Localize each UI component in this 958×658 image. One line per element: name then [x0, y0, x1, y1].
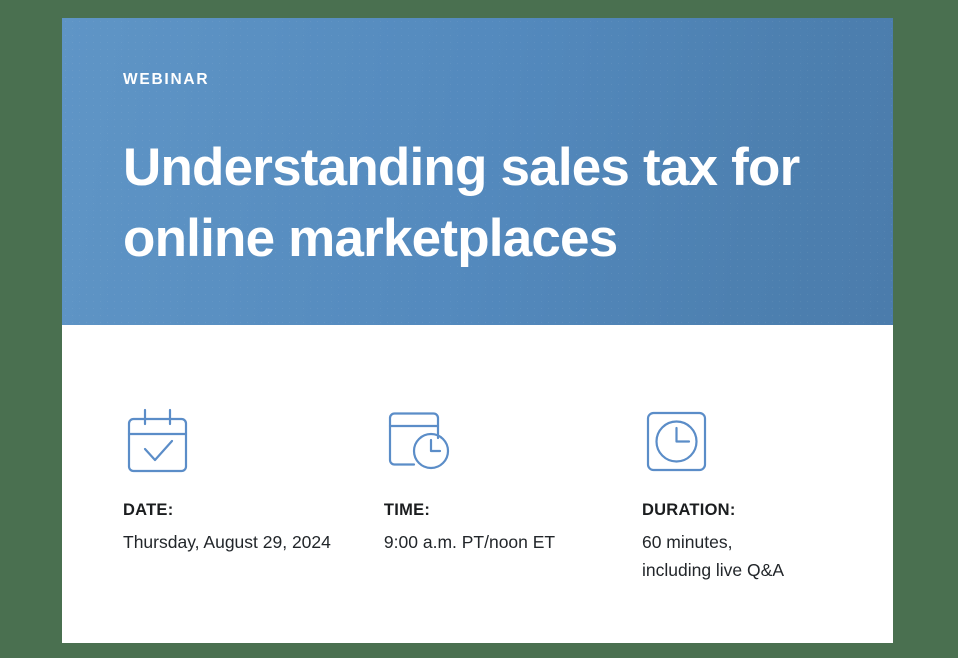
- webinar-card: WEBINAR Understanding sales tax for onli…: [62, 18, 893, 643]
- header-content: WEBINAR Understanding sales tax for onli…: [62, 18, 893, 274]
- detail-time-value: 9:00 a.m. PT/noon ET: [384, 528, 642, 556]
- page-title: Understanding sales tax for online marke…: [123, 132, 833, 274]
- detail-duration-value: 60 minutes, including live Q&A: [642, 528, 853, 585]
- page-title-line-2: online marketplaces: [123, 203, 833, 274]
- eyebrow-label: WEBINAR: [123, 72, 833, 88]
- page-background: WEBINAR Understanding sales tax for onli…: [0, 0, 958, 658]
- detail-duration-value-line-1: 60 minutes,: [642, 528, 853, 556]
- detail-time-value-line-1: 9:00 a.m. PT/noon ET: [384, 528, 642, 556]
- detail-time-label: TIME:: [384, 500, 642, 521]
- card-body: DATE: Thursday, August 29, 2024: [62, 325, 893, 643]
- detail-date-label: DATE:: [123, 500, 384, 521]
- detail-date: DATE: Thursday, August 29, 2024: [123, 405, 384, 556]
- detail-duration-label: DURATION:: [642, 500, 853, 521]
- clock-square-icon: [642, 405, 853, 477]
- webinar-details-row: DATE: Thursday, August 29, 2024: [123, 405, 853, 584]
- detail-time: TIME: 9:00 a.m. PT/noon ET: [384, 405, 642, 556]
- detail-date-value-line-1: Thursday, August 29, 2024: [123, 528, 384, 556]
- detail-duration: DURATION: 60 minutes, including live Q&A: [642, 405, 853, 584]
- detail-duration-value-line-2: including live Q&A: [642, 556, 853, 584]
- card-header-banner: WEBINAR Understanding sales tax for onli…: [62, 18, 893, 325]
- calendar-clock-icon: [384, 405, 642, 477]
- calendar-check-icon: [123, 405, 384, 477]
- page-title-line-1: Understanding sales tax for: [123, 132, 833, 203]
- detail-date-value: Thursday, August 29, 2024: [123, 528, 384, 556]
